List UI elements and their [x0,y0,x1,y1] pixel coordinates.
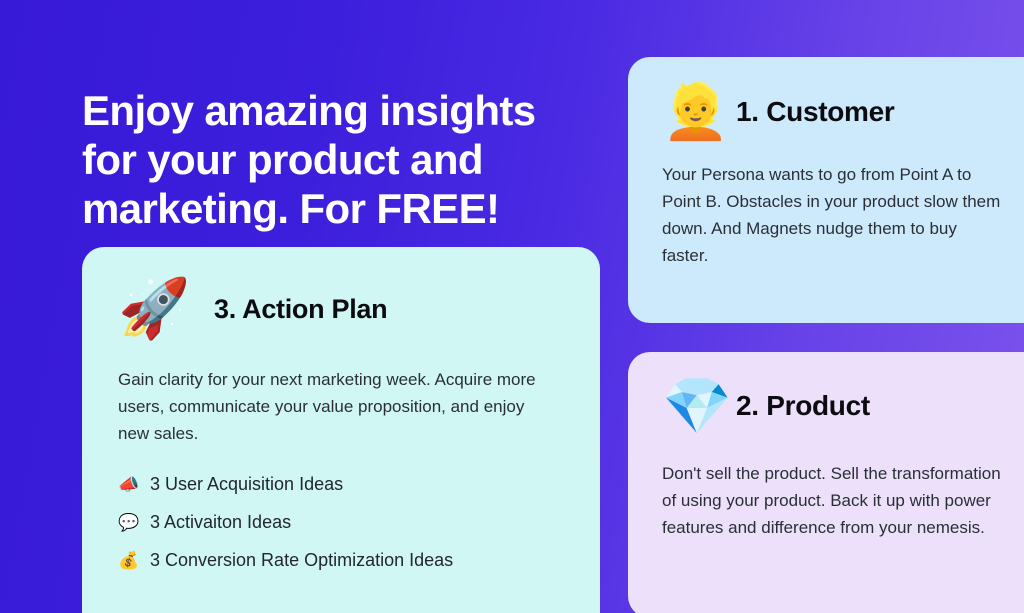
card-customer-header: 👱 1. Customer [662,85,1018,139]
action-plan-bullet-list: 📣3 User Acquisition Ideas💬3 Activaiton I… [118,473,564,572]
action-plan-bullet-item: 💬3 Activaiton Ideas [118,511,564,534]
card-action-plan-body: Gain clarity for your next marketing wee… [118,366,538,447]
card-customer-body: Your Persona wants to go from Point A to… [662,161,1002,269]
money-bag-icon: 💰 [118,552,150,569]
gem-stone-icon: 💎 [662,378,736,434]
card-product-body: Don't sell the product. Sell the transfo… [662,460,1012,541]
card-action-plan: 🚀 3. Action Plan Gain clarity for your n… [82,247,600,613]
card-product-header: 💎 2. Product [662,378,1018,434]
card-product: 💎 2. Product Don't sell the product. Sel… [628,352,1024,613]
headline-line-3: marketing. For FREE! [82,184,602,233]
rocket-icon: 🚀 [118,280,214,338]
card-product-title: 2. Product [736,390,870,422]
action-plan-bullet-label: 3 User Acquisition Ideas [150,473,343,496]
card-customer-title: 1. Customer [736,96,895,128]
headline-line-1: Enjoy amazing insights [82,86,602,135]
action-plan-bullet-item: 💰3 Conversion Rate Optimization Ideas [118,549,564,572]
card-customer: 👱 1. Customer Your Persona wants to go f… [628,57,1024,323]
page-headline: Enjoy amazing insights for your product … [82,86,602,233]
card-action-plan-title: 3. Action Plan [214,294,387,325]
megaphone-icon: 📣 [118,476,150,493]
action-plan-bullet-label: 3 Activaiton Ideas [150,511,291,534]
headline-line-2: for your product and [82,135,602,184]
promo-graphic: Enjoy amazing insights for your product … [0,0,1024,613]
action-plan-bullet-item: 📣3 User Acquisition Ideas [118,473,564,496]
speech-balloon-icon: 💬 [118,514,150,531]
blond-person-icon: 👱 [662,85,736,139]
action-plan-bullet-label: 3 Conversion Rate Optimization Ideas [150,549,453,572]
card-action-plan-header: 🚀 3. Action Plan [118,280,564,338]
